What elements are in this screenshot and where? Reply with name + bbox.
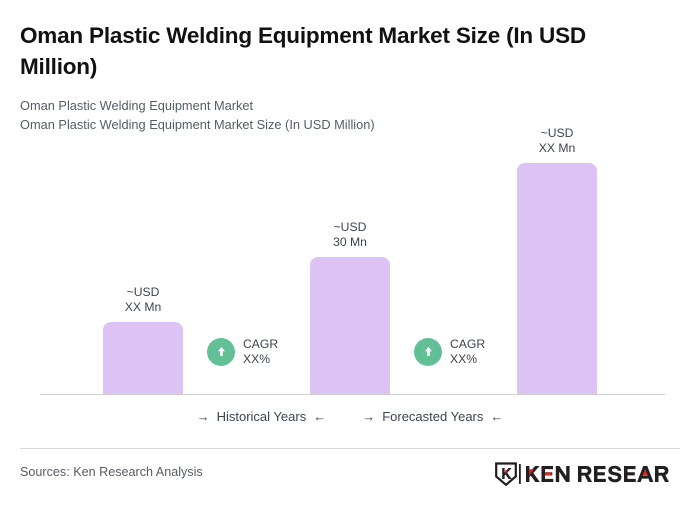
cagr-badge-1-line2: XX% <box>243 352 278 367</box>
chart-baseline-axis <box>40 394 665 395</box>
footer-divider <box>20 448 680 449</box>
sources-text: Sources: Ken Research Analysis <box>20 465 203 479</box>
bar-group-1: ~USD XX Mn <box>103 322 183 394</box>
cagr-arrow-up-icon <box>414 338 442 366</box>
bar-value-label-3-line2: XX Mn <box>539 141 576 156</box>
bar-group-2: ~USD 30 Mn <box>310 257 390 394</box>
arrow-right-icon: → <box>362 410 375 423</box>
ken-research-shield-icon <box>494 462 518 486</box>
cagr-badge-1: CAGR XX% <box>207 337 278 366</box>
cagr-badge-2-line1: CAGR <box>450 337 485 352</box>
chart-plot-area: ~USD XX Mn CAGR XX% ~USD 30 Mn <box>0 110 700 400</box>
bar-value-label-1-line1: ~USD <box>125 285 162 300</box>
arrow-left-icon: ← <box>313 410 326 423</box>
page-title: Oman Plastic Welding Equipment Market Si… <box>20 20 650 82</box>
ken-research-wordmark <box>518 463 670 485</box>
cagr-badge-1-line1: CAGR <box>243 337 278 352</box>
legend-item-historical-years: → Historical Years ← <box>197 409 327 424</box>
arrow-right-icon: → <box>197 410 210 423</box>
chart-legend: → Historical Years ← → Forecasted Years … <box>0 409 700 424</box>
legend-item-forecasted-years-label: Forecasted Years <box>382 409 483 424</box>
bar-2[interactable] <box>310 257 390 394</box>
bar-1[interactable] <box>103 322 183 394</box>
bar-value-label-1: ~USD XX Mn <box>125 285 162 314</box>
cagr-badge-2: CAGR XX% <box>414 337 485 366</box>
bar-value-label-2-line1: ~USD <box>333 220 367 235</box>
bar-value-label-2-line2: 30 Mn <box>333 235 367 250</box>
legend-item-forecasted-years: → Forecasted Years ← <box>362 409 503 424</box>
chart-page: Oman Plastic Welding Equipment Market Si… <box>0 0 700 520</box>
cagr-badge-1-text: CAGR XX% <box>243 337 278 366</box>
bar-value-label-3-line1: ~USD <box>539 126 576 141</box>
bar-3[interactable] <box>517 163 597 394</box>
bar-value-label-3: ~USD XX Mn <box>539 126 576 155</box>
bar-value-label-2: ~USD 30 Mn <box>333 220 367 249</box>
cagr-arrow-up-icon <box>207 338 235 366</box>
cagr-badge-2-text: CAGR XX% <box>450 337 485 366</box>
bar-group-3: ~USD XX Mn <box>517 163 597 394</box>
ken-research-logo <box>494 462 670 486</box>
legend-item-historical-years-label: Historical Years <box>217 409 307 424</box>
cagr-badge-2-line2: XX% <box>450 352 485 367</box>
bar-value-label-1-line2: XX Mn <box>125 300 162 315</box>
arrow-left-icon: ← <box>490 410 503 423</box>
